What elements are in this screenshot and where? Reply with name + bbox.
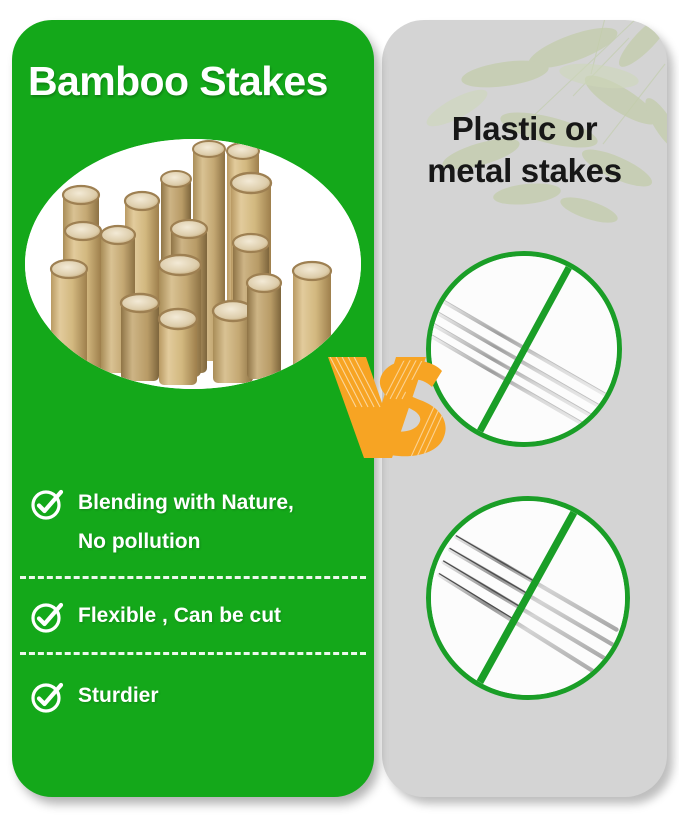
feature-text: Flexible , Can be cut bbox=[78, 597, 281, 636]
left-panel-title: Bamboo Stakes bbox=[28, 58, 368, 105]
prohibition-graphics bbox=[382, 238, 667, 718]
feature-item: Flexible , Can be cut bbox=[12, 579, 374, 636]
right-heading-line-2: metal stakes bbox=[382, 150, 667, 192]
right-panel-heading: Plastic or metal stakes bbox=[382, 108, 667, 192]
check-circle-icon bbox=[30, 680, 64, 714]
bamboo-photo-oval bbox=[25, 139, 361, 389]
right-heading-line-1: Plastic or bbox=[382, 108, 667, 150]
check-circle-icon bbox=[30, 600, 64, 634]
feature-text: Sturdier bbox=[78, 677, 159, 716]
no-metal-stakes-circle bbox=[426, 496, 630, 700]
feature-text: Blending with Nature, No pollution bbox=[78, 484, 294, 562]
feature-item: Sturdier bbox=[12, 655, 374, 716]
left-panel: Bamboo Stakes bbox=[12, 20, 374, 797]
feature-list: Blending with Nature, No pollution Flexi… bbox=[12, 460, 374, 715]
feature-text-line-1: Blending with Nature, bbox=[78, 491, 294, 514]
vs-badge: VS bbox=[322, 355, 462, 460]
check-circle-icon bbox=[30, 487, 64, 521]
feature-text-line-2: No pollution bbox=[78, 530, 200, 553]
infographic-root: Plastic or metal stakes bbox=[0, 0, 679, 837]
feature-item: Blending with Nature, No pollution bbox=[12, 460, 374, 562]
